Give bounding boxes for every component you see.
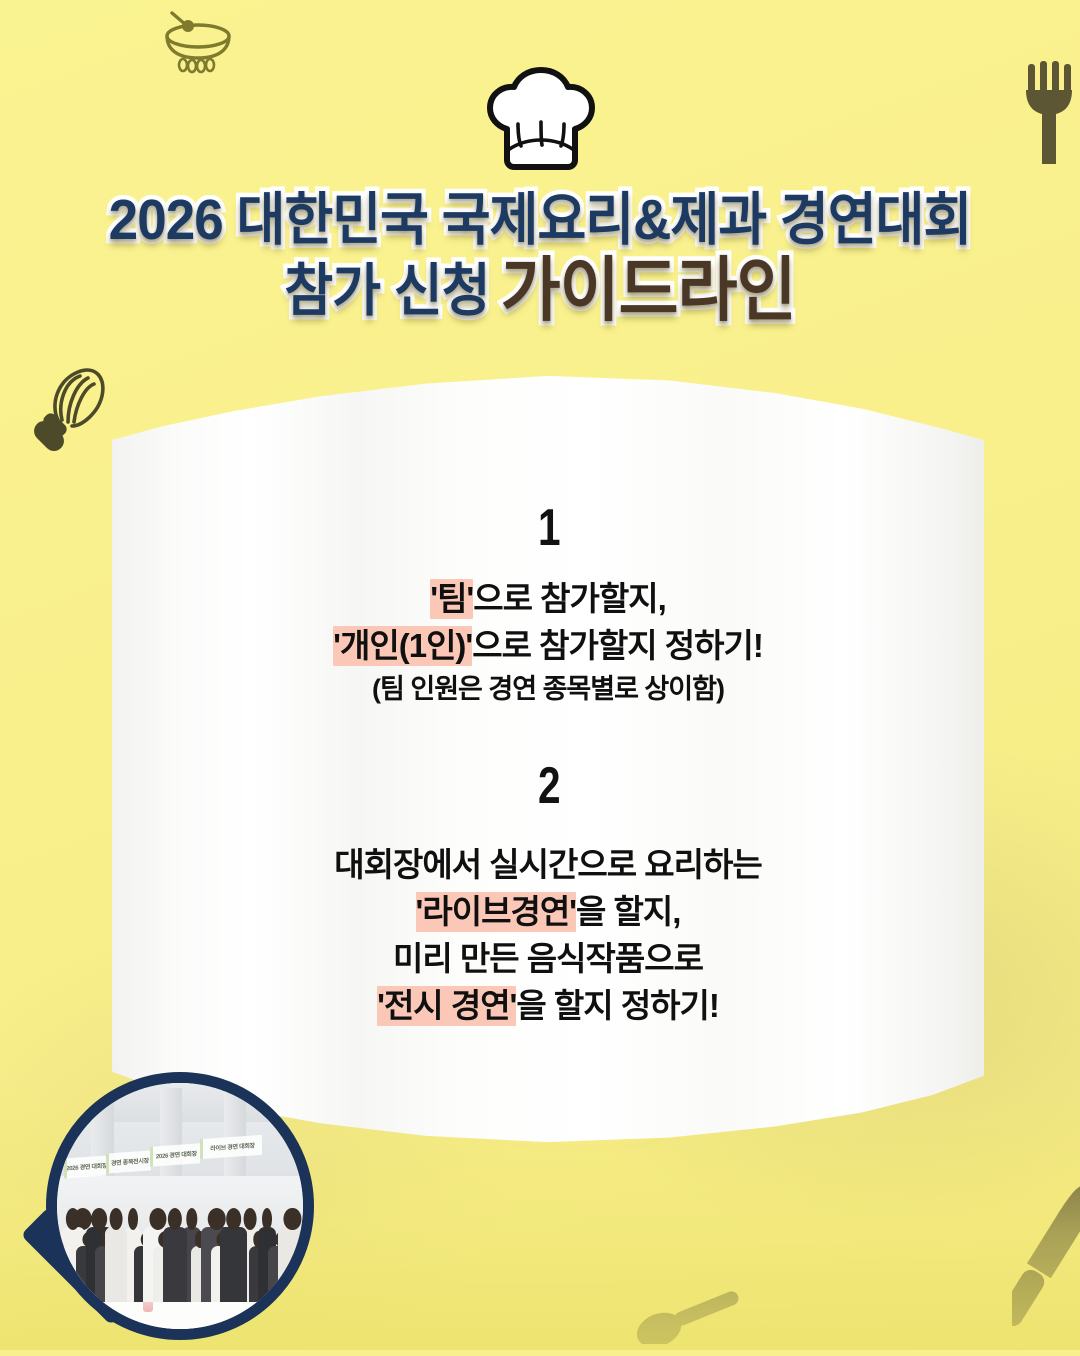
- section-1-line-1: '팀'으로 참가할지,: [112, 576, 984, 623]
- section-2-line-3: 미리 만든 음식작품으로: [112, 936, 984, 983]
- title-line-2-prefix: 참가 신청: [284, 259, 489, 323]
- magnifier-icon: 2026 경연 대회장 경연 종목전시장 2026 경연 대회장 라이브 경연 …: [28, 1064, 320, 1356]
- highlight-team: '팀': [430, 579, 473, 619]
- fork-icon: [1022, 58, 1080, 170]
- section-2-line-2-rest: 을 할지,: [576, 893, 680, 930]
- section-1-line-1-rest: 으로 참가할지,: [473, 580, 666, 617]
- magnifier-lens: 2026 경연 대회장 경연 종목전시장 2026 경연 대회장 라이브 경연 …: [46, 1072, 314, 1340]
- section-1-line-2-rest: 으로 참가할지 정하기!: [472, 627, 763, 664]
- venue-crowd: [57, 1194, 303, 1302]
- section-2-line-2: '라이브경연'을 할지,: [112, 889, 984, 936]
- crowd-person: [163, 1227, 188, 1302]
- section-2-line-4-rest: 을 할지 정하기!: [516, 987, 719, 1024]
- venue-banner-3: 2026 경연 대회장: [150, 1143, 200, 1166]
- section-2-line-4: '전시 경연'을 할지 정하기!: [112, 983, 984, 1030]
- venue-photo: 2026 경연 대회장 경연 종목전시장 2026 경연 대회장 라이브 경연 …: [57, 1083, 303, 1329]
- section-number-2: 2: [537, 760, 558, 812]
- venue-banner-2: 경연 종목전시장: [106, 1150, 151, 1173]
- section-2-line-1: 대회장에서 실시간으로 요리하는: [112, 842, 984, 889]
- crowd-person: [105, 1227, 127, 1302]
- guideline-section-2: 2 대회장에서 실시간으로 요리하는 '라이브경연'을 할지, 미리 만든 음식…: [112, 760, 984, 1029]
- page-title: 2026 대한민국 국제요리&제과 경연대회 참가 신청가이드라인: [0, 192, 1080, 325]
- pot-icon: [152, 2, 244, 74]
- crowd-person: [220, 1227, 247, 1302]
- highlight-display-contest: '전시 경연': [377, 986, 516, 1026]
- section-1-line-2: '개인(1인)'으로 참가할지 정하기!: [112, 623, 984, 670]
- section-number-1: 1: [537, 502, 558, 554]
- guideline-card-content: 1 '팀'으로 참가할지, '개인(1인)'으로 참가할지 정하기! (팀 인원…: [112, 368, 984, 1150]
- highlight-individual: '개인(1인)': [333, 626, 472, 666]
- chef-hat-icon: [478, 62, 604, 170]
- crowd-person: [278, 1227, 303, 1302]
- venue-banner-1: 2026 경연 대회장: [64, 1155, 106, 1178]
- title-line-2-keyword: 가이드라인: [501, 251, 796, 329]
- highlight-live-contest: '라이브경연': [416, 892, 577, 932]
- title-line-2: 참가 신청가이드라인: [38, 255, 1042, 325]
- section-1-note: (팀 인원은 경연 종목별로 상이함): [112, 670, 984, 708]
- title-line-1: 2026 대한민국 국제요리&제과 경연대회: [38, 192, 1042, 249]
- whisk-icon: [28, 360, 114, 456]
- guideline-section-1: 1 '팀'으로 참가할지, '개인(1인)'으로 참가할지 정하기! (팀 인원…: [112, 502, 984, 708]
